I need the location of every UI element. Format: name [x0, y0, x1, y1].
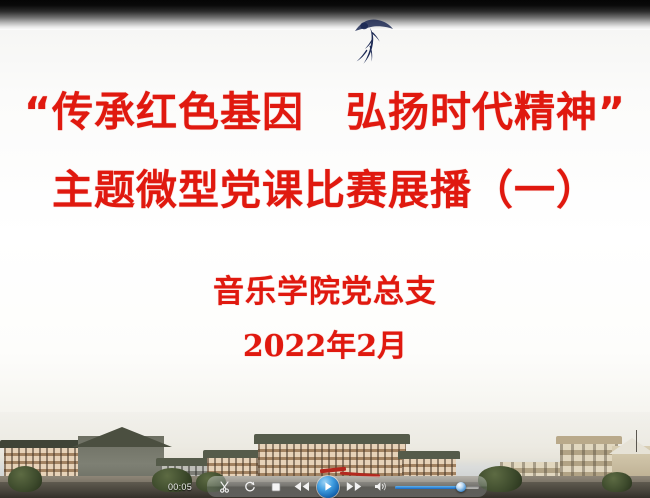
video-frame: “传承红色基因 弘扬时代精神” 主题微型党课比赛展播（一） 音乐学院党总支 20… — [0, 0, 650, 498]
loop-icon — [244, 481, 256, 493]
volume-fill — [395, 486, 461, 489]
play-icon — [323, 481, 333, 492]
rewind-button[interactable] — [289, 477, 315, 496]
scissors-icon — [219, 481, 230, 493]
video-player[interactable]: “传承红色基因 弘扬时代精神” 主题微型党课比赛展播（一） 音乐学院党总支 20… — [0, 0, 650, 498]
playback-controls[interactable]: 00:05 — [163, 476, 487, 497]
play-button[interactable] — [317, 476, 339, 498]
fast-forward-icon — [346, 481, 362, 492]
volume-control[interactable] — [367, 476, 483, 497]
slide-title-line-1: “传承红色基因 弘扬时代精神” — [0, 84, 650, 140]
volume-knob[interactable] — [456, 482, 466, 492]
tree — [8, 466, 42, 492]
top-letterbox — [0, 0, 650, 30]
transport-controls[interactable] — [207, 476, 487, 497]
dancer-logo-icon — [345, 8, 397, 66]
loop-button[interactable] — [237, 477, 263, 496]
volume-slider[interactable] — [395, 481, 479, 493]
slide-organization: 音乐学院党总支 — [0, 270, 650, 314]
snapshot-button[interactable] — [211, 477, 237, 496]
slide-title-block: “传承红色基因 弘扬时代精神” 主题微型党课比赛展播（一） 音乐学院党总支 20… — [0, 84, 650, 368]
slide-date: 2022年2月 — [0, 326, 650, 368]
antenna-pole — [636, 430, 637, 452]
volume-button[interactable] — [367, 477, 393, 496]
roof — [254, 434, 410, 444]
stop-icon — [271, 482, 281, 492]
rewind-icon — [294, 481, 310, 492]
slide-title-line-2: 主题微型党课比赛展播（一） — [0, 162, 650, 218]
roof — [556, 436, 622, 444]
stop-button[interactable] — [263, 477, 289, 496]
fast-forward-button[interactable] — [341, 477, 367, 496]
roof — [398, 451, 460, 459]
speaker-icon — [374, 481, 387, 492]
time-code: 00:05 — [163, 482, 207, 492]
tree — [602, 472, 632, 492]
